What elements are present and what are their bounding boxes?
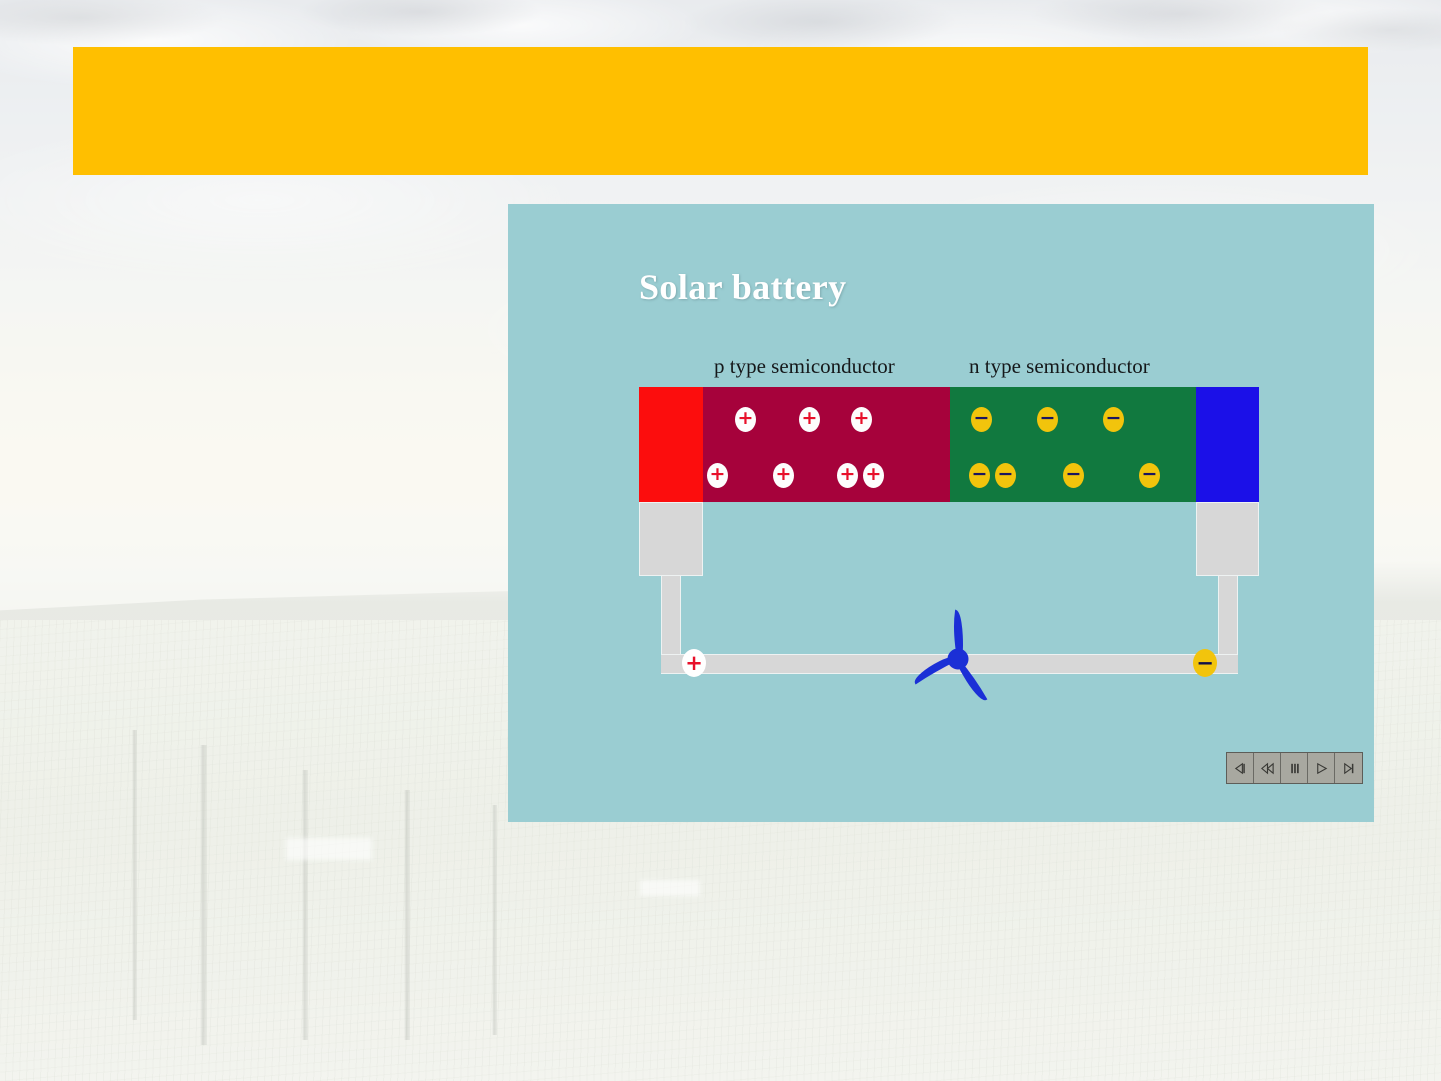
left-electrode	[639, 387, 703, 502]
semiconductor-bar: +++++++−−−−−−−	[639, 387, 1259, 502]
electron-carrier-icon-glyph: −	[1066, 465, 1082, 484]
right-lead-pad	[1196, 502, 1259, 576]
play-icon	[1314, 761, 1329, 776]
skip-end-icon	[1341, 761, 1356, 776]
hole-carrier-icon: +	[773, 463, 794, 488]
hole-carrier-icon: +	[863, 463, 884, 488]
electron-carrier-icon: −	[1103, 407, 1124, 432]
electron-carrier-icon-glyph: −	[974, 409, 990, 428]
right-electrode	[1196, 387, 1259, 502]
pause-icon	[1287, 761, 1302, 776]
diagram-title: Solar battery	[639, 266, 847, 308]
step-back-icon	[1233, 761, 1248, 776]
pause-button[interactable]	[1281, 753, 1308, 783]
propeller-icon	[898, 599, 1018, 719]
page-title	[73, 47, 1368, 175]
positive-terminal-icon: +	[682, 649, 706, 677]
embedded-media-panel[interactable]: Solar battery p type semiconductor n typ…	[508, 204, 1374, 822]
electron-carrier-icon: −	[1139, 463, 1160, 488]
electron-carrier-icon: −	[1037, 407, 1058, 432]
hole-carrier-icon: +	[851, 407, 872, 432]
media-playback-controls[interactable]	[1226, 752, 1363, 784]
electron-carrier-icon-glyph: −	[972, 465, 988, 484]
label-n-type-semiconductor: n type semiconductor	[969, 354, 1150, 379]
hole-carrier-icon: +	[735, 407, 756, 432]
rewind-button[interactable]	[1254, 753, 1281, 783]
label-p-type-semiconductor: p type semiconductor	[714, 354, 895, 379]
electron-carrier-icon-glyph: −	[1142, 465, 1158, 484]
play-button[interactable]	[1308, 753, 1335, 783]
hole-carrier-icon-glyph: +	[866, 465, 882, 484]
slide-title-banner[interactable]	[73, 47, 1368, 175]
hole-carrier-icon: +	[707, 463, 728, 488]
electron-carrier-icon: −	[969, 463, 990, 488]
hole-carrier-icon-glyph: +	[710, 465, 726, 484]
left-lead-pad	[639, 502, 703, 576]
hole-carrier-icon-glyph: +	[854, 409, 870, 428]
electron-carrier-icon: −	[1063, 463, 1084, 488]
rewind-icon	[1260, 761, 1275, 776]
electron-carrier-icon-glyph: −	[1040, 409, 1056, 428]
electron-carrier-icon: −	[971, 407, 992, 432]
skip-to-end-button[interactable]	[1335, 753, 1362, 783]
hole-carrier-icon-glyph: +	[776, 465, 792, 484]
hole-carrier-icon-glyph: +	[802, 409, 818, 428]
negative-terminal-icon: −	[1193, 649, 1217, 677]
hole-carrier-icon-glyph: +	[738, 409, 754, 428]
hole-carrier-icon-glyph: +	[840, 465, 856, 484]
electron-carrier-icon: −	[995, 463, 1016, 488]
electron-carrier-icon-glyph: −	[998, 465, 1014, 484]
hole-carrier-icon: +	[837, 463, 858, 488]
electron-carrier-icon-glyph: −	[1106, 409, 1122, 428]
p-type-region	[703, 387, 950, 502]
hole-carrier-icon: +	[799, 407, 820, 432]
step-back-button[interactable]	[1227, 753, 1254, 783]
